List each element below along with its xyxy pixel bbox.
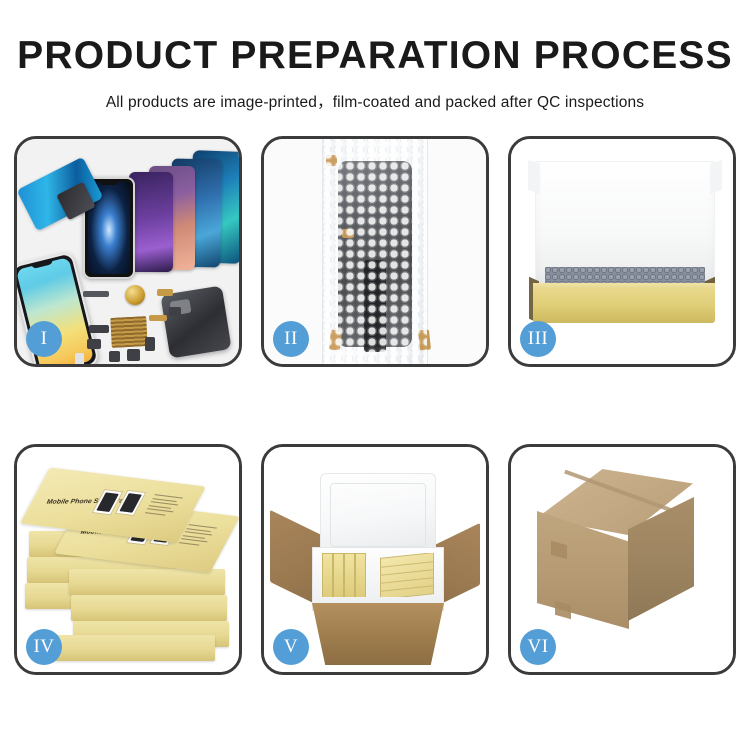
page-subtitle: All products are image-printed，film-coat… [0,90,750,112]
step-6-illustration: VI [511,447,733,672]
small-part-e [127,349,140,361]
step-badge-3: III [520,321,556,357]
box-spec-lines-1 [144,494,185,519]
small-part-d [109,351,120,362]
small-part-g [149,315,167,321]
step-5-illustration: V [264,447,486,672]
phone-back-housing [160,286,231,359]
bubble-texture-overlay [323,139,427,364]
phone-device-2 [129,172,173,272]
process-step-panel-2: II [261,136,489,367]
process-step-panel-1: I [14,136,242,367]
small-part-b [89,325,109,333]
yellow-box-edge-3 [344,553,355,597]
step-4-illustration: Mobile Phone Spare Parts Mobile Phone Sp… [17,447,239,672]
step-badge-2: II [273,321,309,357]
yellow-box-edge-1 [322,553,333,597]
step-2-illustration: II [264,139,486,364]
small-part-f [145,337,155,351]
process-steps-grid: I II III [14,136,736,675]
yellow-box-flat-stack [380,553,434,597]
connector-board-grid [110,316,148,348]
step-badge-6: VI [520,629,556,665]
page-title: PRODUCT PREPARATION PROCESS [0,36,750,77]
yellow-box-edge-2 [333,553,344,597]
foam-box-lid [320,473,436,557]
process-step-panel-4: Mobile Phone Spare Parts Mobile Phone Sp… [14,444,242,675]
page-header: PRODUCT PREPARATION PROCESS All products… [0,0,750,112]
gold-contact-part [157,289,173,296]
sim-tray-part [75,353,84,364]
small-part-c [87,339,101,349]
process-step-panel-5: V [261,444,489,675]
process-step-panel-3: III [508,136,736,367]
small-part-a [169,307,181,316]
stacked-box-2b [71,595,227,621]
step-1-illustration: I [17,139,239,364]
step-badge-1: I [26,321,62,357]
yellow-box-edge-4 [355,553,366,597]
packed-yellow-boxes [320,553,434,597]
flex-cable-part [83,291,109,297]
step-badge-5: V [273,629,309,665]
carton-body [312,603,444,665]
step-badge-4: IV [26,629,62,665]
speaker-module-gold [125,285,145,305]
step-3-illustration: III [511,139,733,364]
phone-notch [100,181,118,185]
yellow-box-front [533,289,715,323]
process-step-panel-6: VI [508,444,736,675]
stacked-box-3b [69,569,225,595]
stacked-box-bottom [45,635,215,661]
